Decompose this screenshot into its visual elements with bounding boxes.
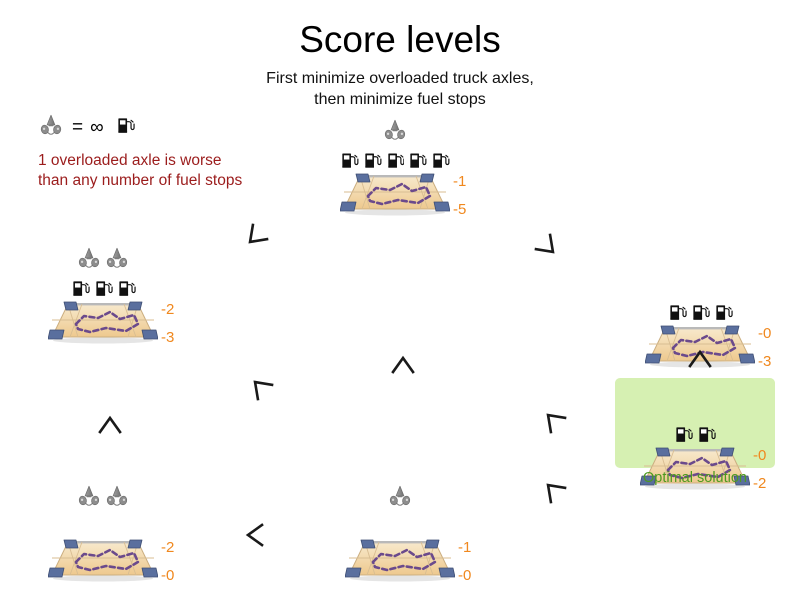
solution-node-bottom-center[interactable]: -1 -0 — [345, 484, 455, 582]
axle-icon-row — [48, 484, 158, 510]
solution-map[interactable]: -1 -0 — [345, 536, 455, 582]
fuel-icon-row — [340, 144, 450, 170]
comparator-less-than — [533, 232, 563, 262]
solution-map[interactable]: -1 -5 — [340, 170, 450, 216]
solution-map[interactable]: -2 -3 — [48, 298, 158, 344]
legend: = ∞ 1 overloaded axle is worse than any … — [38, 113, 318, 191]
legend-description: 1 overloaded axle is worse than any numb… — [38, 151, 318, 191]
comparator-less-than — [245, 372, 275, 402]
axle-icon-row — [48, 246, 158, 272]
soft-score: -0 — [458, 566, 471, 586]
fuel-pump-icon — [340, 151, 359, 170]
page-subtitle: First minimize overloaded truck axles, t… — [0, 68, 800, 110]
hard-score: -0 — [758, 324, 771, 344]
comparator-less-than — [538, 405, 568, 435]
page-title: Score levels — [0, 18, 800, 62]
score-display: -1 -5 — [453, 172, 466, 220]
comparator-less-than — [388, 350, 418, 380]
solution-node-top-center[interactable]: -1 -5 — [340, 118, 450, 216]
fuel-pump-icon — [116, 116, 135, 135]
overloaded-axle-icon — [387, 484, 413, 510]
soft-score: -3 — [758, 352, 771, 372]
legend-equation: = ∞ — [38, 113, 318, 143]
fuel-icon-row — [640, 418, 750, 444]
axle-icon-row — [645, 270, 755, 296]
overloaded-axle-icon — [104, 246, 130, 272]
soft-score: -3 — [161, 328, 174, 348]
fuel-icon-row — [345, 510, 455, 536]
fuel-pump-icon — [94, 279, 113, 298]
comparator-less-than — [538, 475, 568, 505]
overloaded-axle-icon — [76, 246, 102, 272]
hard-score: -0 — [753, 446, 766, 466]
fuel-pump-icon — [363, 151, 382, 170]
fuel-pump-icon — [691, 303, 710, 322]
fuel-pump-icon — [431, 151, 450, 170]
hard-score: -2 — [161, 300, 174, 320]
overloaded-axle-icon — [38, 113, 64, 144]
fuel-icon-row — [48, 510, 158, 536]
comparator-less-than — [240, 520, 270, 550]
soft-score: -5 — [453, 200, 466, 220]
equals-sign: = — [72, 117, 83, 139]
hard-score: -2 — [161, 538, 174, 558]
fuel-icon-row — [645, 296, 755, 322]
route-map-icon — [48, 536, 158, 582]
score-display: -2 -3 — [161, 300, 174, 348]
comparator-less-than — [240, 222, 270, 252]
axle-icon-row — [640, 392, 750, 418]
overloaded-axle-icon — [382, 118, 408, 144]
fuel-icon-row — [48, 272, 158, 298]
overloaded-axle-icon — [38, 113, 64, 139]
score-display: -2 -0 — [161, 538, 174, 586]
fuel-pump-icon — [674, 425, 693, 444]
axle-icon-row — [345, 484, 455, 510]
score-display: -0 -3 — [758, 324, 771, 372]
infinity-symbol: ∞ — [90, 117, 104, 139]
soft-score: -0 — [161, 566, 174, 586]
comparator-less-than — [685, 344, 715, 374]
fuel-pump-icon — [386, 151, 405, 170]
route-map-icon — [48, 298, 158, 344]
fuel-pump-icon — [697, 425, 716, 444]
solution-map[interactable]: -2 -0 — [48, 536, 158, 582]
hard-score: -1 — [458, 538, 471, 558]
fuel-pump-icon — [117, 279, 136, 298]
axle-icon-row — [340, 118, 450, 144]
comparator-less-than — [95, 410, 125, 440]
fuel-pump-icon — [408, 151, 427, 170]
fuel-pump-icon — [71, 279, 90, 298]
optimal-solution-label: Optimal solution — [615, 470, 775, 486]
route-map-icon — [340, 170, 450, 216]
overloaded-axle-icon — [104, 484, 130, 510]
solution-node-left-upper[interactable]: -2 -3 — [48, 246, 158, 344]
hard-score: -1 — [453, 172, 466, 192]
route-map-icon — [345, 536, 455, 582]
solution-node-bottom-left[interactable]: -2 -0 — [48, 484, 158, 582]
score-display: -1 -0 — [458, 538, 471, 586]
fuel-pump-icon — [668, 303, 687, 322]
overloaded-axle-icon — [76, 484, 102, 510]
fuel-pump-icon — [714, 303, 733, 322]
fuel-pump-icon — [116, 116, 135, 140]
